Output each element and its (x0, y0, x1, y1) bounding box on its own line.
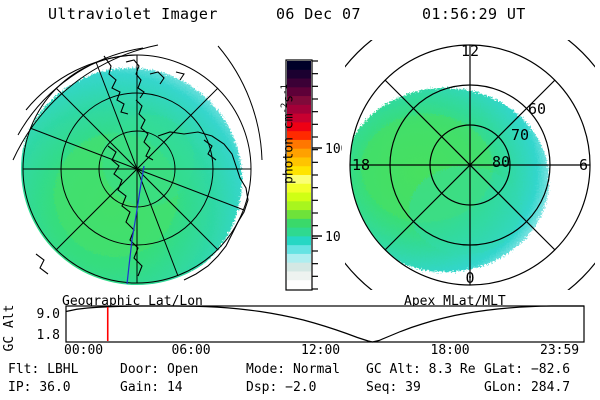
status-field-value: −82.6 (531, 362, 570, 377)
mlat-label-70: 70 (511, 126, 529, 144)
status-field: Mode: Normal (246, 362, 340, 377)
status-field-value: 8.3 Re (429, 362, 476, 377)
status-field: Door: Open (120, 362, 198, 377)
colorbar-band (287, 228, 311, 237)
status-field-label: Dsp: (246, 380, 285, 395)
colorbar-axis-label: photon cm-2s-1 (280, 74, 296, 194)
colorbar-band (287, 271, 311, 280)
mlt-label-6: 6 (579, 156, 588, 174)
geographic-polar-plot (8, 40, 266, 298)
colorbar-label-main: photon cm (281, 114, 296, 184)
colorbar-tick-label: 10 (325, 230, 341, 245)
status-field-label: IP: (8, 380, 39, 395)
colorbar-band (287, 61, 311, 70)
status-field-label: Gain: (120, 380, 167, 395)
status-field-label: Flt: (8, 362, 47, 377)
uvi-screenshot-root: Ultraviolet Imager 06 Dec 07 01:56:29 UT (0, 0, 600, 400)
mlt-label-0: 0 (465, 269, 474, 287)
status-field: IP: 36.0 (8, 380, 71, 395)
status-field-label: GLon: (484, 380, 531, 395)
status-field: Gain: 14 (120, 380, 183, 395)
colorbar-band (287, 210, 311, 219)
colorbar-band (287, 254, 311, 263)
colorbar-tick-labels: 10010 (325, 142, 342, 245)
colorbar-label-exp2: -1 (280, 84, 290, 95)
colorbar-label-mid: s (281, 95, 296, 103)
apex-polar-plot: 12 6 0 18 60 70 80 (345, 40, 595, 290)
status-field-label: Door: (120, 362, 167, 377)
status-field-label: GC Alt: (366, 362, 429, 377)
orbit-xtick-label: 00:00 (64, 343, 103, 358)
colorbar-band (287, 280, 311, 289)
observation-date: 06 Dec 07 (276, 5, 361, 23)
colorbar-band (287, 245, 311, 254)
status-field-label: GLat: (484, 362, 531, 377)
status-field-value: 39 (405, 380, 421, 395)
mlat-label-80: 80 (492, 153, 510, 171)
status-field-value: Normal (293, 362, 340, 377)
colorbar-label-exp1: -2 (280, 103, 290, 114)
status-field: Dsp: −2.0 (246, 380, 316, 395)
status-field-value: LBHL (47, 362, 78, 377)
mlt-label-18: 18 (352, 156, 370, 174)
orbit-xtick-label: 23:59 (540, 343, 579, 358)
status-field: Seq: 39 (366, 380, 421, 395)
orbit-altitude-chart: GC Alt 9.0 1.8 00:0006:0012:0018:0023:59 (0, 300, 600, 356)
header: Ultraviolet Imager 06 Dec 07 01:56:29 UT (0, 5, 600, 29)
status-field-value: 284.7 (531, 380, 570, 395)
mlt-label-12: 12 (461, 42, 479, 60)
colorbar-ticks (312, 61, 322, 289)
status-field-value: Open (167, 362, 198, 377)
status-field: GLon: 284.7 (484, 380, 570, 395)
status-field: Flt: LBHL (8, 362, 78, 377)
status-field-value: 14 (167, 380, 183, 395)
colorbar-band (287, 236, 311, 245)
colorbar-tick-label: 100 (325, 142, 342, 157)
status-field-label: Mode: (246, 362, 293, 377)
aurora-emission-region-apex (345, 88, 549, 272)
colorbar-band (287, 263, 311, 272)
mlt-spokes (350, 45, 590, 285)
status-field-value: 36.0 (39, 380, 70, 395)
observation-time: 01:56:29 UT (422, 5, 526, 23)
status-field: GLat: −82.6 (484, 362, 570, 377)
geographic-plot-svg (8, 40, 266, 298)
orbit-xtick-label: 18:00 (431, 343, 470, 358)
mlat-label-60: 60 (528, 100, 546, 118)
apex-plot-svg: 12 6 0 18 60 70 80 (345, 40, 595, 290)
status-field-value: −2.0 (285, 380, 316, 395)
colorbar-band (287, 219, 311, 228)
status-field-label: Seq: (366, 380, 405, 395)
status-field: GC Alt: 8.3 Re (366, 362, 476, 377)
colorbar: photon cm-2s-1 10010 (268, 58, 342, 294)
colorbar-band (287, 201, 311, 210)
status-footer: Flt: LBHLDoor: OpenMode: NormalGC Alt: 8… (0, 362, 600, 400)
orbit-xtick-label: 06:00 (172, 343, 211, 358)
orbit-xtick-label: 12:00 (301, 343, 340, 358)
instrument-title: Ultraviolet Imager (48, 5, 218, 23)
orbit-plot-frame (66, 306, 584, 342)
